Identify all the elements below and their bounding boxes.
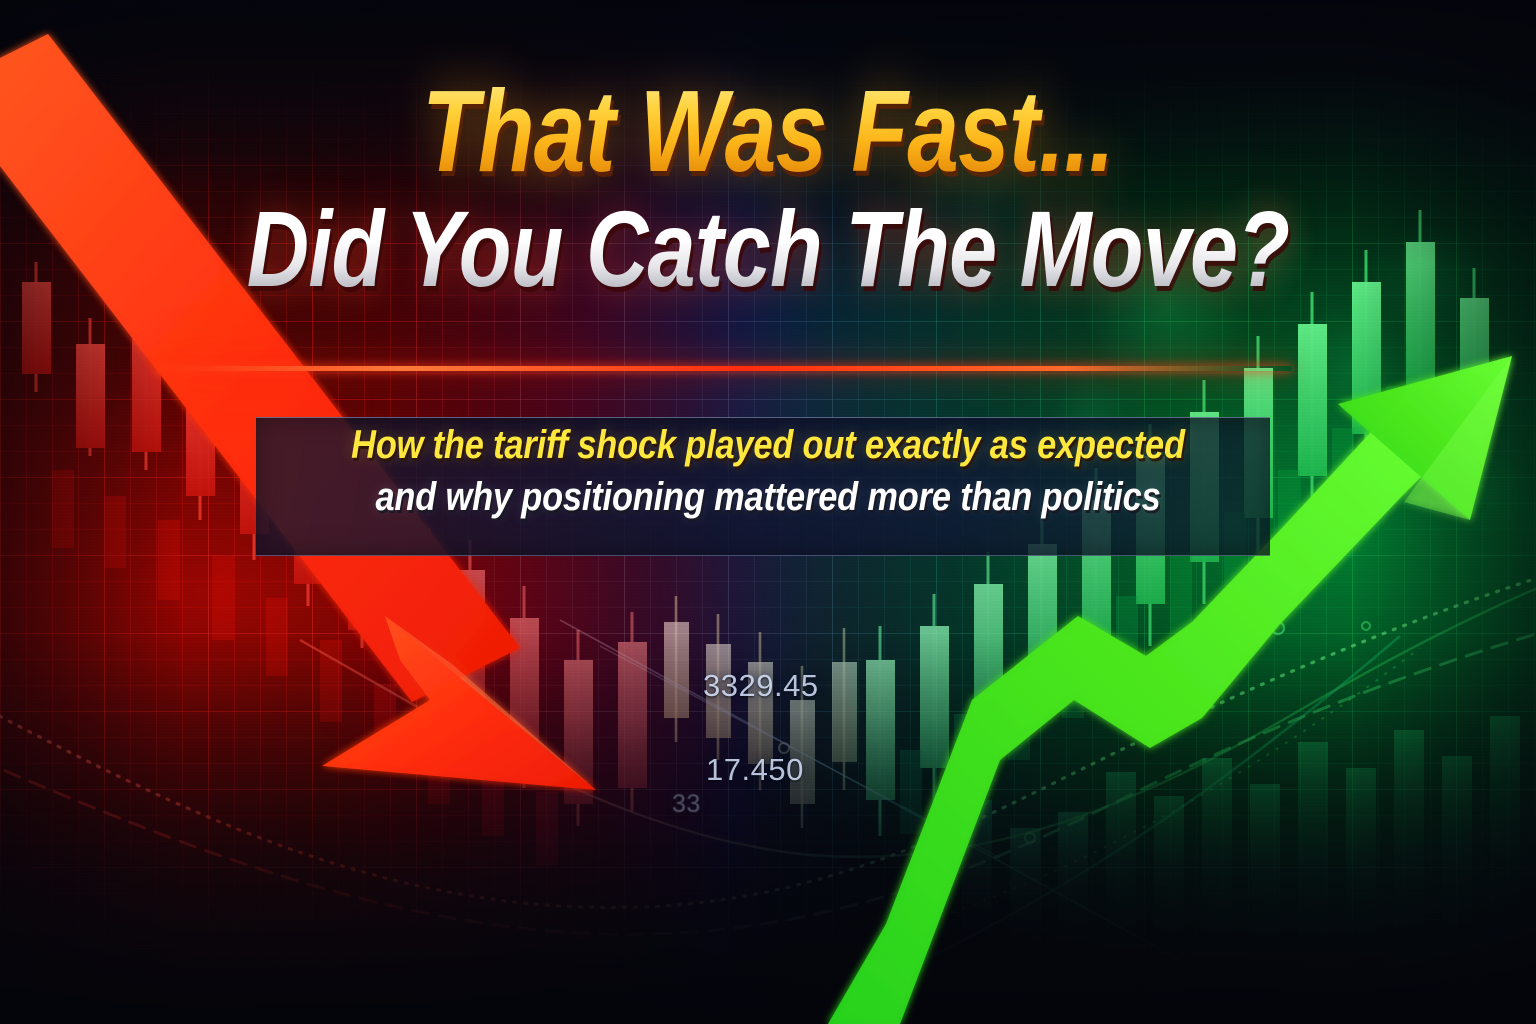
promo-banner: 3329.45 17.450 33 That Was Fast... Did Y… (0, 0, 1536, 1024)
subtitle-panel (256, 417, 1270, 556)
price-label-primary: 3329.45 (703, 668, 819, 704)
price-label-faint: 33 (672, 790, 731, 819)
price-label-secondary: 17.450 (706, 752, 804, 788)
divider-red-glow (152, 366, 1292, 371)
